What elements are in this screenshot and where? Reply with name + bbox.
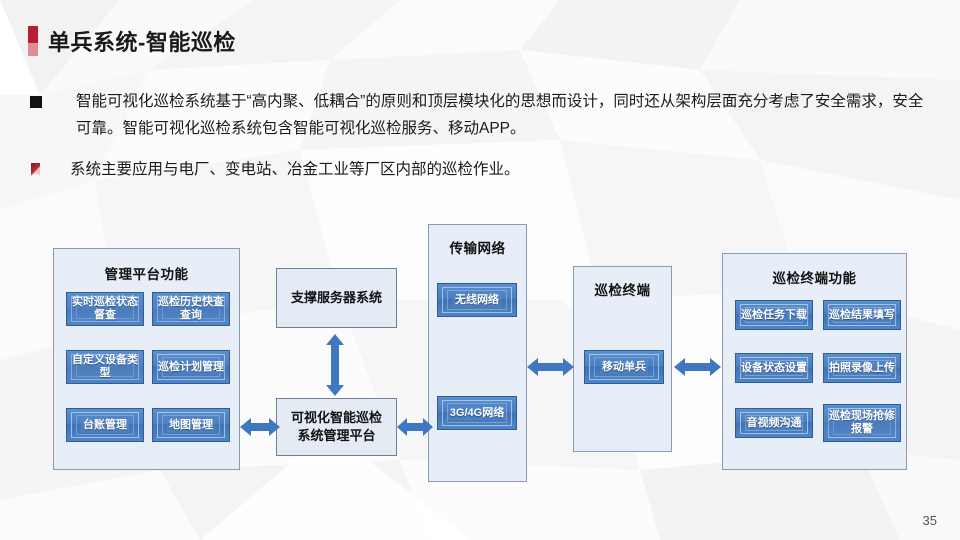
button-photo-video-upload[interactable]: 拍照录像上传 xyxy=(823,353,901,383)
architecture-diagram: 管理平台功能 实时巡检状态督查 巡检历史快查查询 自定义设备类型 巡检计划管理 … xyxy=(0,0,960,540)
button-3g-4g-network[interactable]: 3G/4G网络 xyxy=(437,396,517,430)
button-inspection-history-query[interactable]: 巡检历史快查查询 xyxy=(152,292,230,326)
panel-inspection-terminal-title: 巡检终端 xyxy=(574,279,671,299)
bullet-paragraph-2-text: 系统主要应用与电厂、变电站、冶金工业等厂区内部的巡检作业。 xyxy=(70,158,935,182)
button-download-inspection-task[interactable]: 巡检任务下载 xyxy=(735,300,813,330)
panel-management-platform-title: 管理平台功能 xyxy=(54,263,239,283)
arrow-platform-to-management xyxy=(240,416,280,438)
button-device-status-setting[interactable]: 设备状态设置 xyxy=(735,353,813,383)
arrow-core-to-transmission xyxy=(397,416,433,438)
arrow-core-to-support-server xyxy=(324,334,346,396)
box-visual-platform-core: 可视化智能巡检 系统管理平台 xyxy=(276,398,397,456)
box-support-server-label: 支撑服务器系统 xyxy=(291,289,382,307)
bullet-paragraph-1-text: 智能可视化巡检系统基于“高内聚、低耦合”的原则和顶层模块化的思想而设计，同时还从… xyxy=(76,88,935,142)
arrow-transmission-to-terminal xyxy=(527,356,574,378)
square-bullet-icon xyxy=(30,96,42,108)
button-audio-video-communication[interactable]: 音视频沟通 xyxy=(735,408,813,438)
bullet-paragraph-2: 系统主要应用与电厂、变电站、冶金工业等厂区内部的巡检作业。 xyxy=(30,158,935,182)
title-accent-bar xyxy=(28,26,38,56)
button-map-management[interactable]: 地图管理 xyxy=(152,408,230,442)
button-custom-device-type[interactable]: 自定义设备类型 xyxy=(66,350,144,384)
panel-terminal-functions-title: 巡检终端功能 xyxy=(723,267,906,287)
button-wireless-network[interactable]: 无线网络 xyxy=(437,283,517,317)
button-mobile-individual-unit[interactable]: 移动单兵 xyxy=(584,350,664,384)
flag-bullet-icon xyxy=(31,163,40,176)
panel-transmission-network-title: 传输网络 xyxy=(429,237,526,257)
page-number: 35 xyxy=(923,513,937,528)
arrow-terminal-to-functions xyxy=(674,356,721,378)
button-inspection-plan-management[interactable]: 巡检计划管理 xyxy=(152,350,230,384)
bullet-paragraph-1: 智能可视化巡检系统基于“高内聚、低耦合”的原则和顶层模块化的思想而设计，同时还从… xyxy=(30,88,935,142)
panel-transmission-network: 传输网络 xyxy=(428,224,527,482)
box-support-server: 支撑服务器系统 xyxy=(276,268,397,328)
button-ledger-management[interactable]: 台账管理 xyxy=(66,408,144,442)
slide-canvas: 单兵系统-智能巡检 智能可视化巡检系统基于“高内聚、低耦合”的原则和顶层模块化的… xyxy=(0,0,960,540)
button-realtime-inspection-status[interactable]: 实时巡检状态督查 xyxy=(66,292,144,326)
box-visual-platform-core-label-1: 可视化智能巡检 xyxy=(291,409,382,427)
page-title: 单兵系统-智能巡检 xyxy=(48,25,236,57)
button-onsite-repair-alarm[interactable]: 巡检现场抢修报警 xyxy=(823,404,901,442)
box-visual-platform-core-label-2: 系统管理平台 xyxy=(297,427,375,445)
button-fill-inspection-result[interactable]: 巡检结果填写 xyxy=(823,300,901,330)
